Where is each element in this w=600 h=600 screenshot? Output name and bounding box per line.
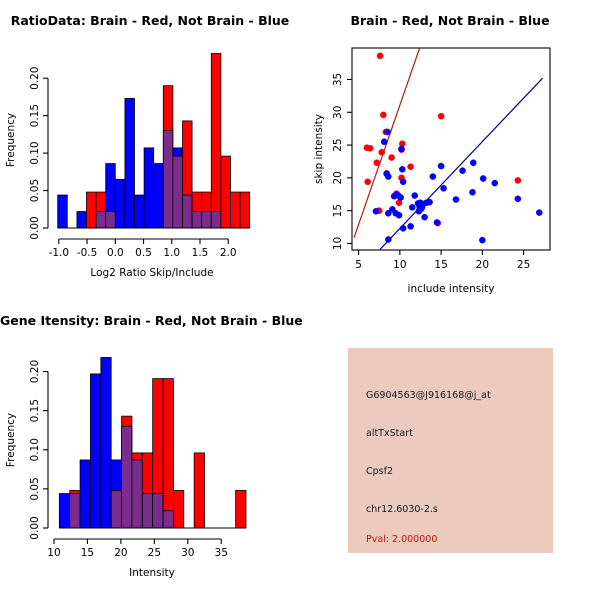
hist-bar	[58, 195, 68, 228]
scatter-point	[367, 145, 373, 151]
scatter-point	[536, 210, 542, 216]
y-tick-label: 0.15	[29, 399, 41, 422]
scatter-plot: 101520253035510152025include intensitysk…	[300, 0, 600, 300]
hist-bar	[154, 164, 164, 228]
hist-bar	[240, 192, 250, 228]
scatter-point	[396, 212, 402, 218]
hist-bar-overlap	[142, 494, 152, 528]
info-locus: chr12.6030-2.s	[366, 504, 438, 515]
ratio-hist-title: RatioData: Brain - Red, Not Brain - Blue	[0, 13, 300, 28]
scatter-point	[384, 171, 390, 177]
x-tick-label: 20	[114, 547, 127, 559]
x-tick-label: 25	[148, 547, 161, 559]
info-pval: Pval: 2.000000	[366, 534, 437, 545]
x-tick-label: 10	[393, 259, 406, 271]
hist-bar-overlap	[202, 212, 212, 228]
y-tick-label: 25	[332, 138, 344, 151]
scatter-point	[422, 214, 428, 220]
x-tick-label: 10	[47, 547, 60, 559]
x-tick-label: -1.0	[49, 247, 70, 259]
hist-bar	[115, 179, 125, 228]
y-axis-label: skip intensity	[313, 114, 325, 184]
hist-bar	[125, 98, 135, 228]
y-tick-label: 0.05	[29, 179, 41, 202]
y-tick-label: 0.05	[29, 477, 41, 500]
y-tick-label: 35	[332, 73, 344, 86]
x-axis: 510152025	[355, 250, 530, 271]
y-tick-label: 0.10	[29, 438, 41, 461]
hist-bar-overlap	[163, 131, 173, 228]
x-tick-label: 30	[181, 547, 194, 559]
scatter-point	[389, 206, 395, 212]
scatter-point	[434, 219, 440, 225]
scatter-point	[440, 185, 446, 191]
scatter-point	[430, 173, 436, 179]
hist-bar-overlap	[211, 212, 221, 228]
scatter-point	[409, 204, 415, 210]
x-tick-label: 0.5	[135, 247, 152, 259]
scatter-point	[379, 149, 385, 155]
fit-line-not-brain-fit	[380, 78, 543, 249]
scatter-point	[399, 166, 405, 172]
scatter-point	[381, 139, 387, 145]
x-tick-label: 2.0	[220, 247, 237, 259]
hist-bar-overlap	[163, 511, 173, 528]
hist-bar	[230, 192, 240, 228]
scatter-point	[407, 164, 413, 170]
panel-gene-histogram: Gene Itensity: Brain - Red, Not Brain - …	[0, 300, 300, 600]
x-tick-label: 25	[517, 259, 530, 271]
hist-bar	[86, 192, 96, 228]
hist-bar-overlap	[122, 426, 132, 528]
scatter-point	[374, 160, 380, 166]
x-tick-label: 1.0	[163, 247, 180, 259]
scatter-point	[398, 146, 404, 152]
y-axis-label: Frequency	[5, 113, 17, 167]
hist-bar-overlap	[192, 212, 202, 228]
scatter-point	[380, 112, 386, 118]
y-axis-label: Frequency	[5, 413, 17, 467]
hist-bar-overlap	[106, 212, 116, 228]
hist-bar	[90, 374, 100, 528]
x-tick-label: 20	[476, 259, 489, 271]
gene-info-panel: G6904563@J916168@j_at altTxStart Cpsf2 c…	[348, 348, 553, 553]
scatter-title: Brain - Red, Not Brain - Blue	[300, 13, 600, 28]
hist-bar-overlap	[173, 156, 183, 228]
info-event-type: altTxStart	[366, 428, 413, 439]
x-tick-label: 1.5	[192, 247, 209, 259]
scatter-point	[389, 154, 395, 160]
y-tick-label: 0.00	[29, 516, 41, 539]
x-axis: -1.0-0.50.00.51.01.52.0	[49, 239, 237, 259]
scatter-point	[480, 175, 486, 181]
scatter-point	[426, 199, 432, 205]
scatter-point	[400, 225, 406, 231]
scatter-point	[479, 237, 485, 243]
scatter-point	[365, 179, 371, 185]
hist-bar	[80, 460, 90, 528]
scatter-point	[470, 160, 476, 166]
y-tick-label: 20	[332, 171, 344, 184]
hist-bar-overlap	[132, 460, 142, 528]
hist-bar	[144, 148, 154, 228]
y-tick-label: 0.00	[29, 216, 41, 239]
hist-bar-overlap	[70, 494, 80, 528]
scatter-point	[438, 163, 444, 169]
gene-hist-title: Gene Itensity: Brain - Red, Not Brain - …	[0, 313, 300, 328]
panel-ratio-histogram: RatioData: Brain - Red, Not Brain - Blue…	[0, 0, 300, 300]
hist-bar	[134, 195, 144, 228]
scatter-point	[398, 194, 404, 200]
hist-bars-group	[58, 53, 250, 228]
y-axis: 0.000.050.100.150.20	[29, 67, 48, 240]
hist-bar	[77, 212, 87, 228]
x-tick-label: 15	[434, 259, 447, 271]
x-axis: 101520253035	[47, 539, 228, 559]
hist-bar-overlap	[153, 494, 163, 528]
scatter-point	[373, 208, 379, 214]
y-tick-label: 0.10	[29, 141, 41, 164]
hist-bar	[236, 490, 246, 528]
hist-bar	[163, 379, 173, 528]
ratio-histogram-plot: 0.000.050.100.150.20-1.0-0.50.00.51.01.5…	[0, 0, 300, 300]
scatter-point	[377, 53, 383, 59]
hist-bars-group	[59, 357, 246, 528]
y-tick-label: 30	[332, 106, 344, 119]
scatter-point	[385, 236, 391, 242]
panel-scatter: Brain - Red, Not Brain - Blue 1015202530…	[300, 0, 600, 300]
scatter-inner	[354, 48, 543, 249]
scatter-point	[400, 179, 406, 185]
y-tick-label: 0.20	[29, 67, 41, 90]
scatter-point	[412, 192, 418, 198]
figure-canvas: RatioData: Brain - Red, Not Brain - Blue…	[0, 0, 600, 600]
hist-bar	[221, 156, 231, 228]
y-tick-label: 0.20	[29, 360, 41, 383]
scatter-point	[453, 196, 459, 202]
y-axis: 101520253035	[332, 73, 352, 250]
x-tick-label: 15	[81, 547, 94, 559]
x-tick-label: 5	[355, 259, 362, 271]
scatter-point	[515, 196, 521, 202]
hist-bar	[59, 494, 69, 528]
scatter-point	[438, 113, 444, 119]
x-axis-label: Log2 Ratio Skip/Include	[90, 267, 213, 279]
hist-bar-overlap	[96, 212, 106, 228]
gene-histogram-plot: 0.000.050.100.150.20101520253035Intensit…	[0, 300, 300, 600]
scatter-point	[459, 168, 465, 174]
hist-bar	[101, 357, 111, 528]
y-tick-label: 10	[332, 237, 344, 250]
y-axis: 0.000.050.100.150.20	[29, 360, 48, 540]
scatter-point	[469, 189, 475, 195]
info-probeset-id: G6904563@J916168@j_at	[366, 390, 491, 401]
hist-bar	[173, 490, 183, 528]
scatter-point	[417, 200, 423, 206]
y-tick-label: 0.15	[29, 104, 41, 127]
x-axis-label: include intensity	[408, 283, 495, 295]
hist-bar-overlap	[111, 490, 121, 528]
info-gene-symbol: Cpsf2	[366, 466, 393, 477]
scatter-point	[492, 180, 498, 186]
hist-bar	[194, 453, 204, 528]
y-tick-label: 15	[332, 204, 344, 217]
hist-bar-overlap	[182, 195, 192, 228]
x-axis-label: Intensity	[129, 567, 175, 579]
scatter-point	[407, 223, 413, 229]
scatter-point	[384, 129, 390, 135]
x-tick-label: 35	[215, 547, 228, 559]
hist-bar	[211, 53, 221, 228]
x-tick-label: -0.5	[77, 247, 98, 259]
scatter-point	[515, 177, 521, 183]
x-tick-label: 0.0	[107, 247, 124, 259]
